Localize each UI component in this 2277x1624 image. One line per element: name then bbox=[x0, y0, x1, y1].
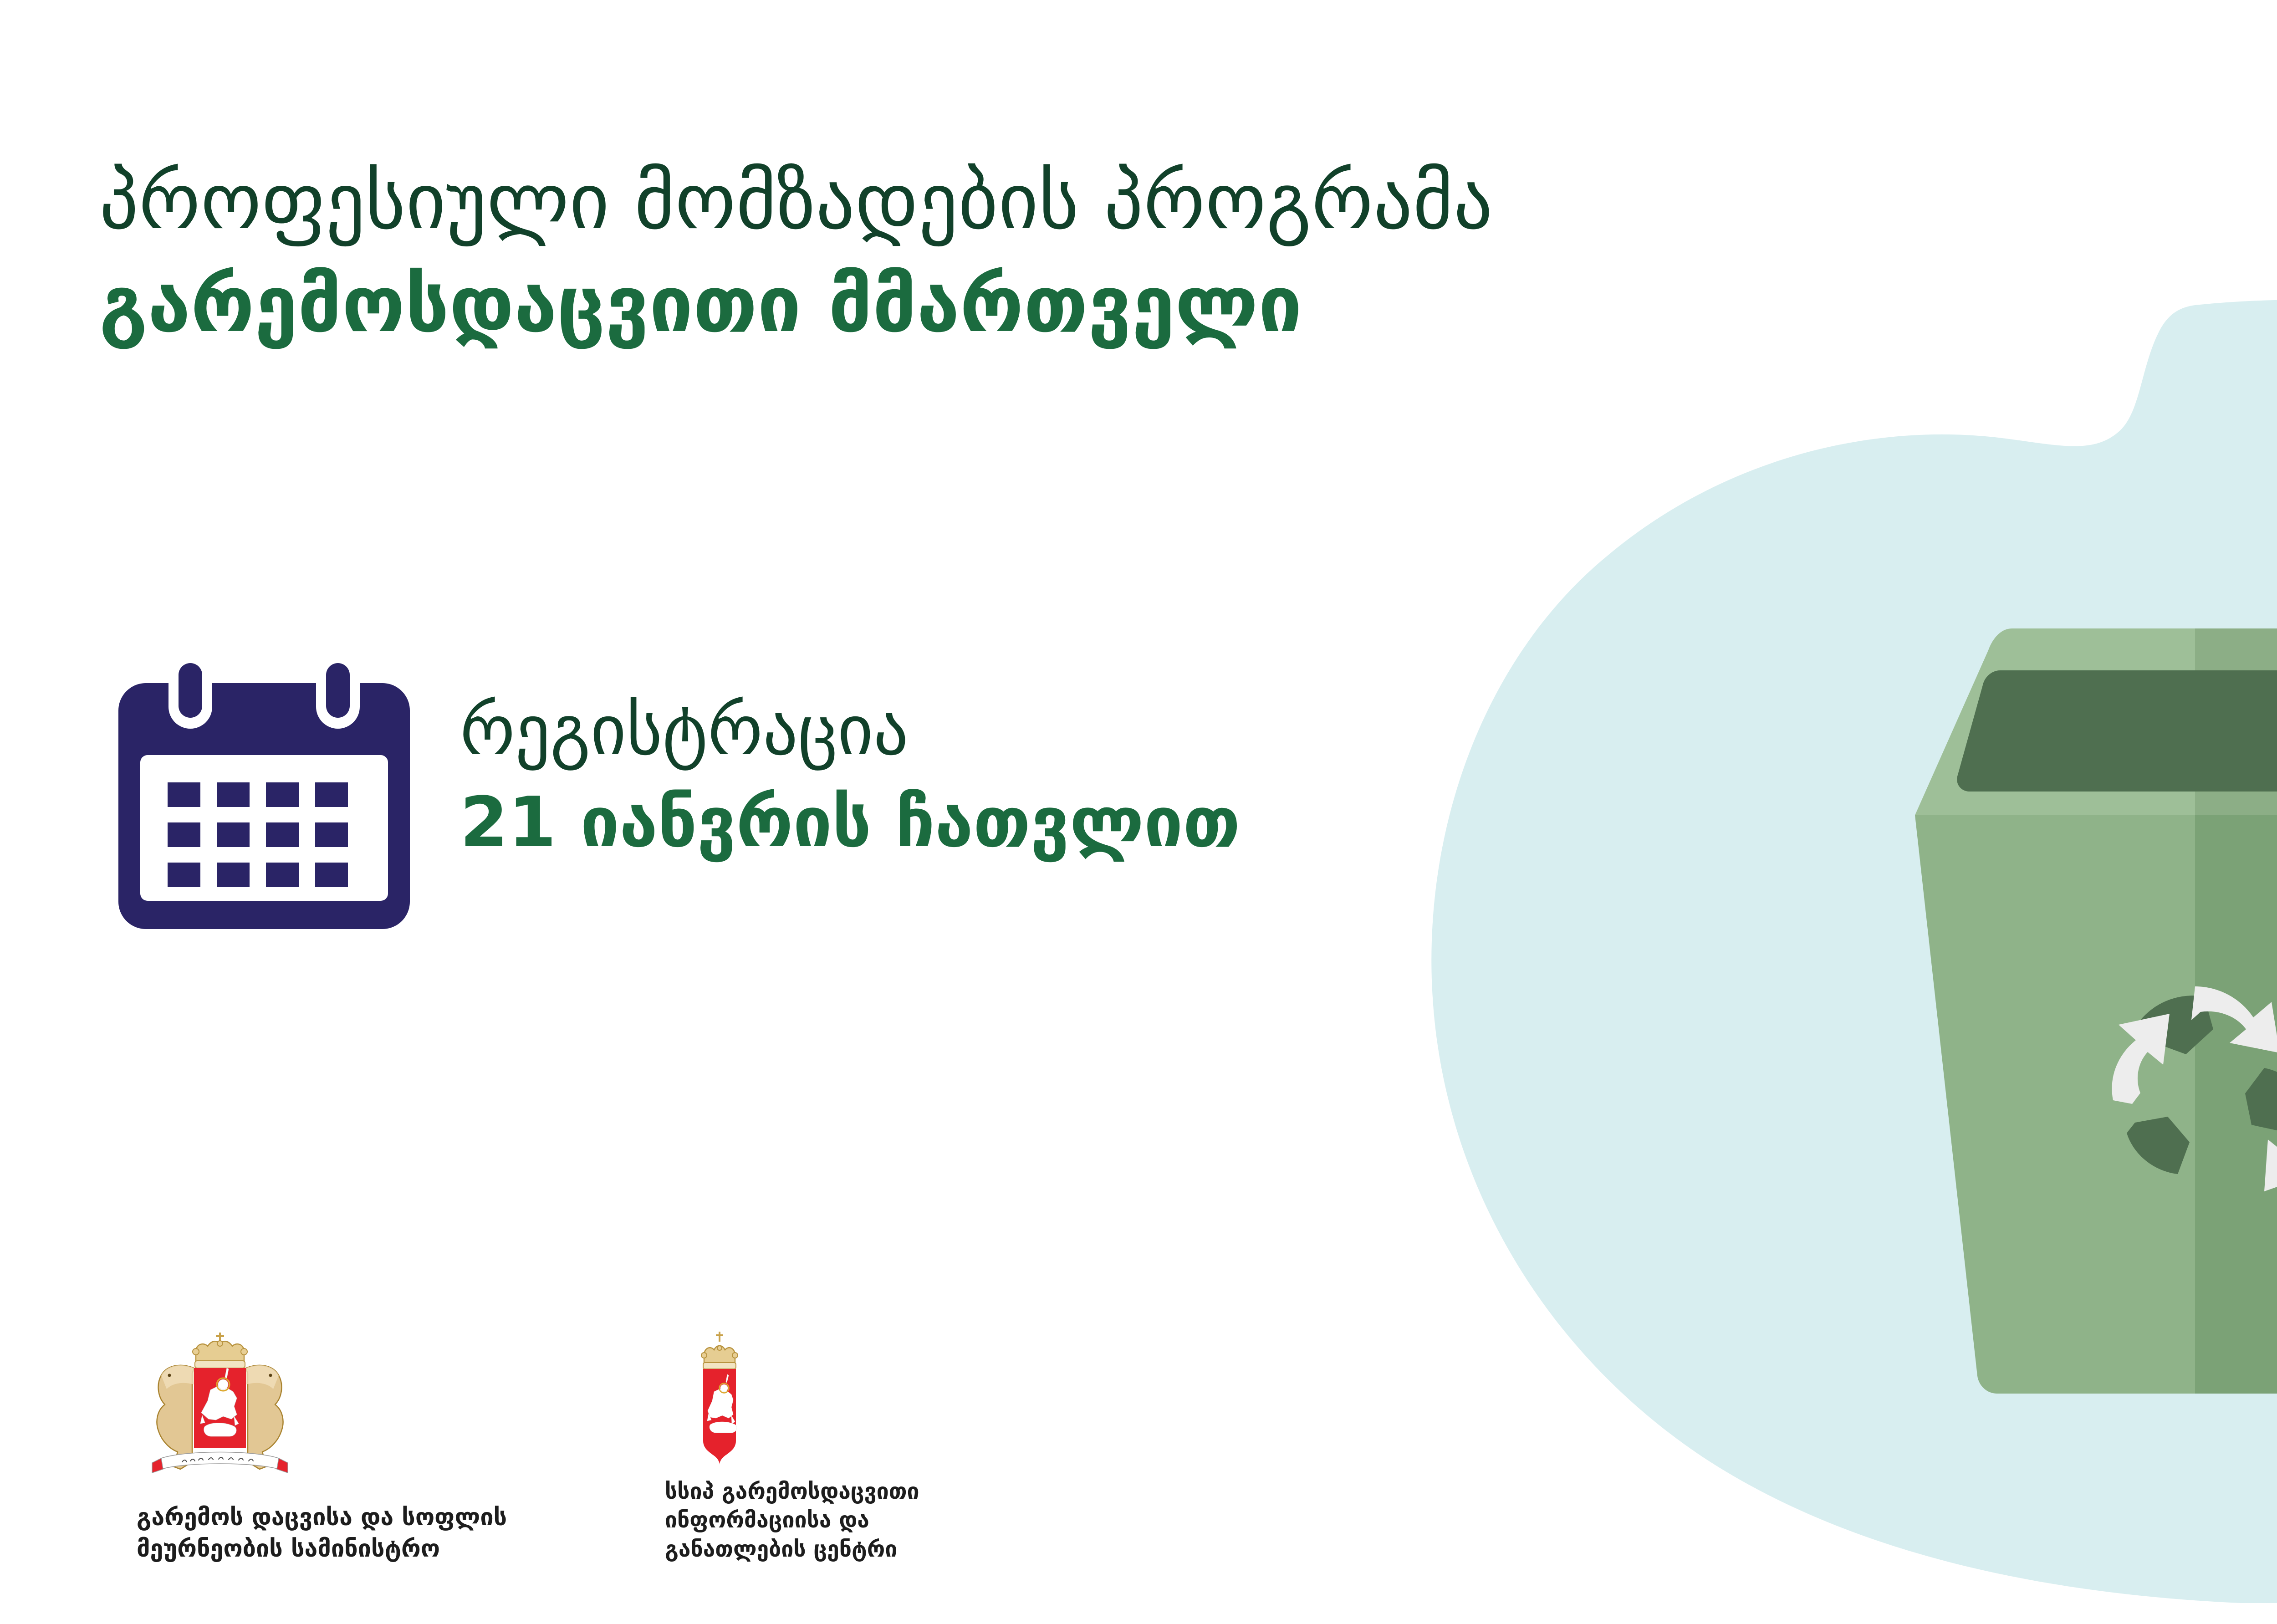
ministry-logo-caption: გარემოს დაცვისა და სოფლის მეურნეობის სამ… bbox=[137, 1502, 619, 1564]
ceic-caption-line-2: ინფორმაციისა და bbox=[665, 1506, 1120, 1535]
ministry-caption-line-2: მეურნეობის სამინისტრო bbox=[137, 1533, 619, 1565]
ministry-logo-block: გარემოს დაცვისა და სოფლის მეურნეობის სამ… bbox=[137, 1330, 619, 1564]
registration-label: რეგისტრაცია bbox=[460, 684, 1240, 776]
headline-program-name: პროფესიული მომზადების პროგრამა bbox=[99, 150, 2103, 253]
ceic-logo-caption: სსიპ გარემოსდაცვითი ინფორმაციისა და განა… bbox=[665, 1477, 1120, 1564]
ceic-caption-line-3: განათლების ცენტრი bbox=[665, 1535, 1120, 1564]
page-title: პროფესიული მომზადების პროგრამა გარემოსდა… bbox=[99, 150, 2103, 356]
ministry-caption-line-1: გარემოს დაცვისა და სოფლის bbox=[137, 1502, 619, 1533]
georgia-coat-of-arms-icon bbox=[145, 1330, 295, 1489]
calendar-icon bbox=[118, 638, 410, 929]
registration-deadline: 21 იანვრის ჩათვლით bbox=[460, 776, 1240, 868]
ceic-logo-block: სსიპ გარემოსდაცვითი ინფორმაციისა და განა… bbox=[665, 1330, 1120, 1564]
georgia-crowned-shield-icon bbox=[688, 1330, 751, 1466]
recycling-bin-icon bbox=[1894, 619, 2277, 1403]
registration-info-row: რეგისტრაცია 21 იანვრის ჩათვლით bbox=[118, 638, 1240, 929]
footer-logos: გარემოს დაცვისა და სოფლის მეურნეობის სამ… bbox=[137, 1330, 1120, 1564]
headline-program-subject: გარემოსდაცვითი მმართველი bbox=[99, 253, 2103, 356]
ceic-caption-line-1: სსიპ გარემოსდაცვითი bbox=[665, 1477, 1120, 1506]
registration-text-block: რეგისტრაცია 21 იანვრის ჩათვლით bbox=[460, 684, 1240, 882]
illustration-area bbox=[1403, 264, 2277, 1603]
